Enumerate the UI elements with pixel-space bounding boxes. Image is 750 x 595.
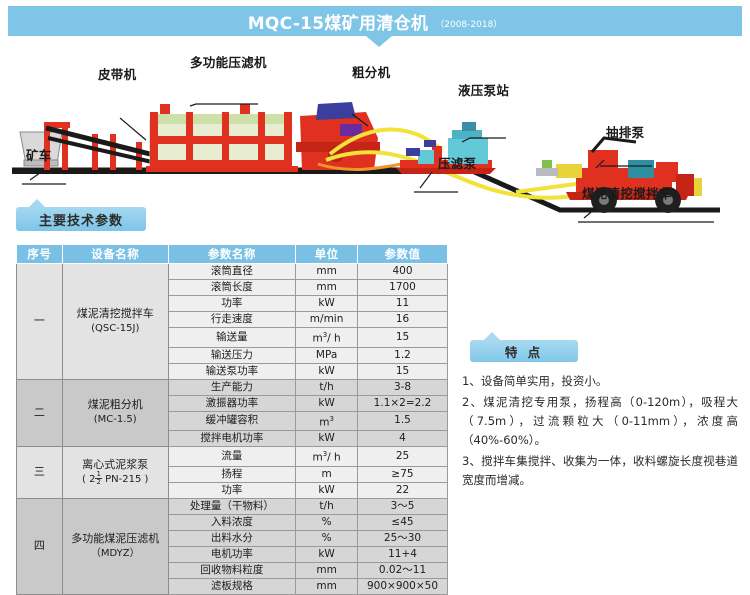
specs-section-label: 主要技术参数 bbox=[39, 210, 123, 229]
cell-value: 15 bbox=[358, 363, 448, 379]
cell-unit: % bbox=[296, 514, 358, 530]
table-row: 二煤泥粗分机(MC-1.5)生产能力t/h3-8 bbox=[17, 379, 448, 395]
cell-parameter-name: 缓冲罐容积 bbox=[168, 411, 296, 431]
cell-group-index: 一 bbox=[17, 264, 63, 380]
cell-unit: t/h bbox=[296, 379, 358, 395]
cell-value: 3～5 bbox=[358, 498, 448, 514]
cell-value: ≤45 bbox=[358, 514, 448, 530]
cell-parameter-name: 滤板规格 bbox=[168, 578, 296, 594]
cell-value: 3-8 bbox=[358, 379, 448, 395]
cell-unit: kW bbox=[296, 363, 358, 379]
cell-value: 0.02～11 bbox=[358, 562, 448, 578]
coarse-separator-graphic bbox=[296, 102, 380, 170]
cell-unit: mm bbox=[296, 562, 358, 578]
header-unit: 单位 bbox=[296, 245, 358, 264]
cell-unit: mm bbox=[296, 280, 358, 296]
cell-unit: m bbox=[296, 466, 358, 482]
cell-parameter-name: 处理量（干物料） bbox=[168, 498, 296, 514]
cell-equipment-name: 多功能煤泥压滤机（MDYZ） bbox=[62, 498, 168, 594]
cell-value: 900×900×50 bbox=[358, 578, 448, 594]
cell-parameter-name: 扬程 bbox=[168, 466, 296, 482]
banner-title: MQC-15煤矿用清仓机 bbox=[248, 9, 429, 34]
cell-value: 1700 bbox=[358, 280, 448, 296]
table-row: 四多功能煤泥压滤机（MDYZ）处理量（干物料）t/h3～5 bbox=[17, 498, 448, 514]
technical-parameters-table: 序号 设备名称 参数名称 单位 参数值 一煤泥清挖搅拌车(QSC-15J)滚筒直… bbox=[16, 244, 448, 595]
cell-parameter-name: 滚筒直径 bbox=[168, 264, 296, 280]
header-parameter: 参数名称 bbox=[168, 245, 296, 264]
header-equipment: 设备名称 bbox=[62, 245, 168, 264]
cell-value: 400 bbox=[358, 264, 448, 280]
cell-unit: kW bbox=[296, 431, 358, 447]
header-index: 序号 bbox=[17, 245, 63, 264]
cell-unit: kW bbox=[296, 296, 358, 312]
cell-parameter-name: 输送压力 bbox=[168, 347, 296, 363]
label-filter-press-pump: 压滤泵 bbox=[438, 153, 476, 172]
label-coarse-separator: 粗分机 bbox=[352, 62, 390, 81]
cell-value: 1.5 bbox=[358, 411, 448, 431]
cell-unit: % bbox=[296, 530, 358, 546]
feature-item: 1、设备简单实用，投资小。 bbox=[462, 372, 738, 391]
features-list: 1、设备简单实用，投资小。2、煤泥清挖专用泵，扬程高（0-120m），吸程大（7… bbox=[462, 372, 738, 492]
features-section-tab: 特 点 bbox=[470, 340, 578, 362]
cell-unit: m3 bbox=[296, 411, 358, 431]
equipment-system-diagram: 皮带机 多功能压滤机 粗分机 液压泵站 抽排泵 矿车 压滤泵 煤泥清挖搅拌车 bbox=[0, 42, 750, 232]
cell-value: 1.1×2=2.2 bbox=[358, 395, 448, 411]
specs-section-tab: 主要技术参数 bbox=[16, 207, 146, 231]
feature-item: 3、搅拌车集搅拌、收集为一体，收料螺旋长度视巷道宽度而增减。 bbox=[462, 452, 738, 490]
cell-value: 11 bbox=[358, 296, 448, 312]
cell-equipment-name: 离心式泥浆泵( 212 PN-215 ) bbox=[62, 447, 168, 499]
cell-parameter-name: 出料水分 bbox=[168, 530, 296, 546]
cell-parameter-name: 入料浓度 bbox=[168, 514, 296, 530]
cell-parameter-name: 输送量 bbox=[168, 328, 296, 348]
cell-parameter-name: 搅拌电机功率 bbox=[168, 431, 296, 447]
cell-value: 22 bbox=[358, 482, 448, 498]
filter-press-graphic bbox=[146, 104, 298, 172]
cell-parameter-name: 回收物料粒度 bbox=[168, 562, 296, 578]
label-multi-function-filter-press: 多功能压滤机 bbox=[190, 52, 267, 71]
cell-value: 11+4 bbox=[358, 546, 448, 562]
cell-equipment-name: 煤泥粗分机(MC-1.5) bbox=[62, 379, 168, 447]
cell-unit: m3/ h bbox=[296, 328, 358, 348]
cell-value: 4 bbox=[358, 431, 448, 447]
table-body: 一煤泥清挖搅拌车(QSC-15J)滚筒直径mm400滚筒长度mm1700功率kW… bbox=[17, 264, 448, 595]
cell-parameter-name: 功率 bbox=[168, 296, 296, 312]
cell-group-index: 二 bbox=[17, 379, 63, 447]
cell-unit: MPa bbox=[296, 347, 358, 363]
cell-group-index: 四 bbox=[17, 498, 63, 594]
cell-unit: mm bbox=[296, 264, 358, 280]
label-hydraulic-pump-station: 液压泵站 bbox=[458, 80, 509, 99]
cell-parameter-name: 行走速度 bbox=[168, 312, 296, 328]
banner-year-range: （2008-2018） bbox=[435, 17, 502, 30]
cell-unit: mm bbox=[296, 578, 358, 594]
label-mine-cart: 矿车 bbox=[26, 145, 52, 164]
table-row: 三离心式泥浆泵( 212 PN-215 )流量m3/ h25 bbox=[17, 447, 448, 467]
cell-parameter-name: 滚筒长度 bbox=[168, 280, 296, 296]
cell-equipment-name: 煤泥清挖搅拌车(QSC-15J) bbox=[62, 264, 168, 380]
page-banner: MQC-15煤矿用清仓机 （2008-2018） bbox=[8, 6, 742, 36]
label-belt-conveyor: 皮带机 bbox=[98, 64, 136, 83]
cell-unit: kW bbox=[296, 395, 358, 411]
cell-value: 15 bbox=[358, 328, 448, 348]
table-header-row: 序号 设备名称 参数名称 单位 参数值 bbox=[17, 245, 448, 264]
cell-value: 25～30 bbox=[358, 530, 448, 546]
table-row: 一煤泥清挖搅拌车(QSC-15J)滚筒直径mm400 bbox=[17, 264, 448, 280]
cell-value: 25 bbox=[358, 447, 448, 467]
cell-value: 16 bbox=[358, 312, 448, 328]
cell-value: 1.2 bbox=[358, 347, 448, 363]
cell-parameter-name: 电机功率 bbox=[168, 546, 296, 562]
feature-item: 2、煤泥清挖专用泵，扬程高（0-120m），吸程大（7.5m），过流颗粒大（0-… bbox=[462, 393, 738, 450]
cell-group-index: 三 bbox=[17, 447, 63, 499]
cell-unit: kW bbox=[296, 482, 358, 498]
cell-unit: m3/ h bbox=[296, 447, 358, 467]
label-extraction-pump: 抽排泵 bbox=[606, 122, 644, 141]
cell-parameter-name: 激振器功率 bbox=[168, 395, 296, 411]
cell-unit: kW bbox=[296, 546, 358, 562]
cell-value: ≥75 bbox=[358, 466, 448, 482]
features-section-label: 特 点 bbox=[505, 342, 543, 361]
cell-parameter-name: 流量 bbox=[168, 447, 296, 467]
header-value: 参数值 bbox=[358, 245, 448, 264]
label-slurry-mixer-truck: 煤泥清挖搅拌车 bbox=[582, 183, 672, 202]
cell-parameter-name: 功率 bbox=[168, 482, 296, 498]
cell-unit: t/h bbox=[296, 498, 358, 514]
cell-parameter-name: 生产能力 bbox=[168, 379, 296, 395]
cell-parameter-name: 输送泵功率 bbox=[168, 363, 296, 379]
cell-unit: m/min bbox=[296, 312, 358, 328]
